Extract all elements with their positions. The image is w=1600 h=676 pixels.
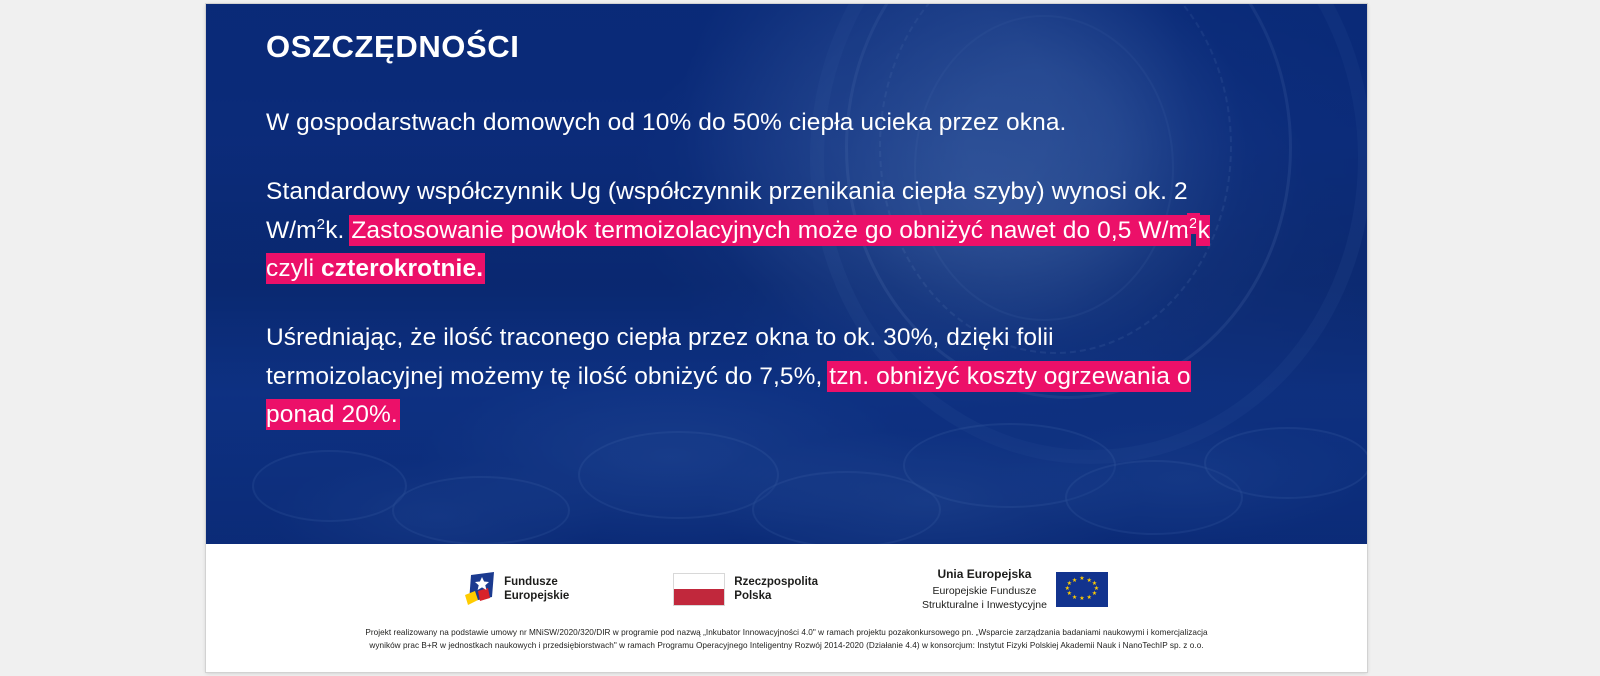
logo-label: Fundusze Europejskie xyxy=(504,575,569,604)
eu-star-icon: ★ xyxy=(1079,576,1084,582)
text-run-superscript: 2 xyxy=(317,215,326,232)
slide-footer: Fundusze Europejskie Rzeczpospolita Pols… xyxy=(206,544,1367,672)
fineprint-line-1: Projekt realizowany na podstawie umowy n… xyxy=(264,626,1309,639)
text-run: k. xyxy=(325,217,351,244)
presentation-slide: OSZCZĘDNOŚCI W gospodarstwach domowych o… xyxy=(206,4,1367,672)
logo-rzeczpospolita-polska: Rzeczpospolita Polska xyxy=(673,573,818,606)
logo-fundusze-europejskie: Fundusze Europejskie xyxy=(465,571,569,607)
screenshot-stage: OSZCZĘDNOŚCI W gospodarstwach domowych o… xyxy=(0,0,1600,676)
paragraph-3: Uśredniając, że ilość traconego ciepła p… xyxy=(266,319,1226,435)
highlighted-superscript: 2 xyxy=(1189,215,1198,232)
highlighted-bold-text-run: czterokrotnie. xyxy=(321,255,483,282)
logo-unia-europejska: Unia Europejska Europejskie Fundusze Str… xyxy=(922,566,1108,613)
eu-flag-icon: ★★★★★★★★★★★★ xyxy=(1056,572,1108,607)
eu-star-icon: ★ xyxy=(1072,578,1077,584)
paragraph-2: Standardowy współczynnik Ug (współczynni… xyxy=(266,173,1226,289)
eu-star-icon: ★ xyxy=(1072,595,1077,601)
eu-title: Unia Europejska xyxy=(922,566,1047,582)
slide-hero-area: OSZCZĘDNOŚCI W gospodarstwach domowych o… xyxy=(206,4,1367,544)
eu-star-icon: ★ xyxy=(1086,595,1091,601)
poland-flag-icon xyxy=(673,573,725,606)
eu-star-icon: ★ xyxy=(1079,596,1084,602)
logo-label: Rzeczpospolita Polska xyxy=(734,575,818,604)
slide-title: OSZCZĘDNOŚCI xyxy=(266,30,1226,64)
highlighted-text-run: Zastosowanie powłok termoizolacyjnych mo… xyxy=(351,217,1189,244)
funding-logos: Fundusze Europejskie Rzeczpospolita Pols… xyxy=(206,544,1367,613)
fundusze-europejskie-icon xyxy=(465,571,495,607)
eu-subtitle-line-2: Strukturalne i Inwestycyjne xyxy=(922,599,1047,611)
eu-logo-text: Unia Europejska Europejskie Fundusze Str… xyxy=(922,566,1047,613)
slide-content: OSZCZĘDNOŚCI W gospodarstwach domowych o… xyxy=(266,30,1226,435)
fineprint-line-2: wyników prac B+R w jednostkach naukowych… xyxy=(264,639,1309,652)
text-run: W gospodarstwach domowych od 10% do 50% … xyxy=(266,109,1066,136)
paragraph-1: W gospodarstwach domowych od 10% do 50% … xyxy=(266,104,1226,143)
project-fineprint: Projekt realizowany na podstawie umowy n… xyxy=(206,626,1367,653)
eu-subtitle-line-1: Europejskie Fundusze xyxy=(933,585,1037,597)
eu-star-icon: ★ xyxy=(1092,591,1097,597)
